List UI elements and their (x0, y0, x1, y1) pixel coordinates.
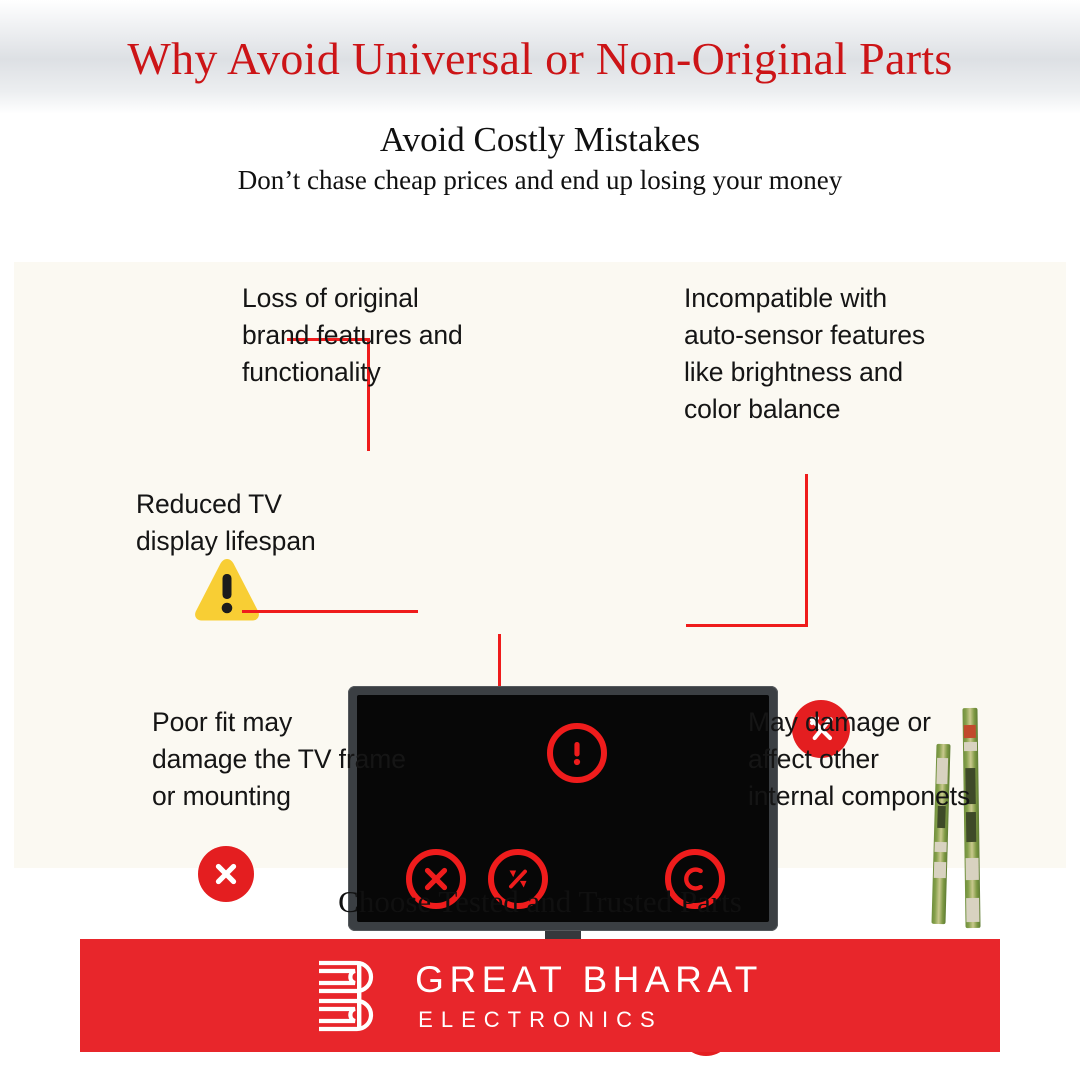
callout-auto-sensor: Incompatible with auto-sensor features l… (684, 280, 994, 428)
subhead-subtitle: Don’t chase cheap prices and end up losi… (0, 165, 1080, 196)
callout-display-lifespan: Reduced TV display lifespan (136, 486, 396, 560)
subhead-block: Avoid Costly Mistakes Don’t chase cheap … (0, 120, 1080, 196)
callout-brand-features: Loss of original brand features and func… (242, 280, 542, 391)
warning-triangle-icon (192, 554, 262, 624)
callout-internal-damage: May damage or affect other internal comp… (748, 704, 1028, 815)
great-bharat-logo-icon (317, 957, 387, 1035)
callout-poor-fit: Poor fit may damage the TV frame or moun… (152, 704, 472, 815)
connector-line (805, 474, 808, 626)
brand-bar: GREAT BHARAT ELECTRONICS (80, 939, 1000, 1052)
header-band: Why Avoid Universal or Non-Original Part… (0, 0, 1080, 114)
page-title: Why Avoid Universal or Non-Original Part… (127, 36, 952, 82)
subhead-title: Avoid Costly Mistakes (0, 120, 1080, 160)
connector-line (686, 624, 808, 627)
brand-name: GREAT BHARAT (415, 961, 763, 998)
infographic-panel: Loss of original brand features and func… (14, 262, 1066, 868)
brand-subtitle: ELECTRONICS (418, 1009, 662, 1031)
exclamation-circle-icon (547, 723, 607, 783)
footer-tagline: Choose Tested and Trusted Parts (0, 884, 1080, 920)
connector-line (242, 610, 418, 613)
